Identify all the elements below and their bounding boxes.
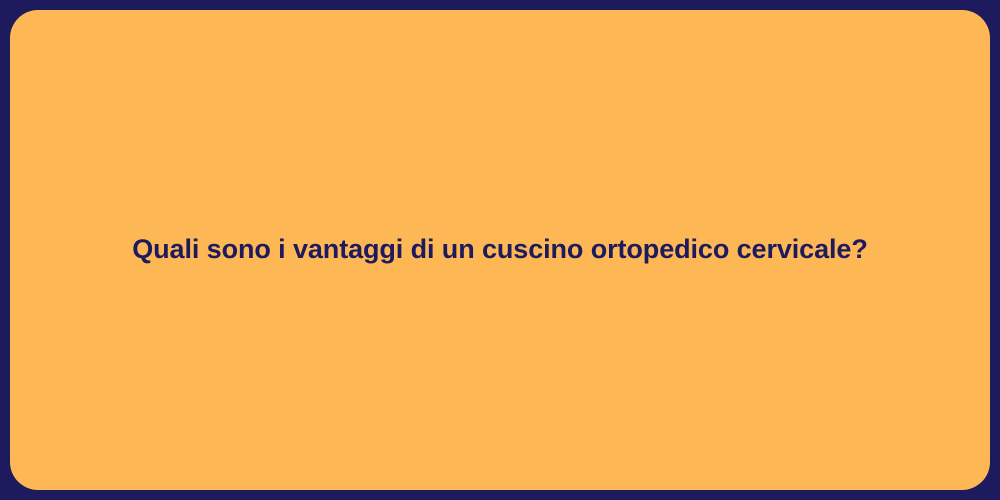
page-title: Quali sono i vantaggi di un cuscino orto… <box>132 233 867 267</box>
banner-card: Quali sono i vantaggi di un cuscino orto… <box>10 10 990 490</box>
banner-frame: Quali sono i vantaggi di un cuscino orto… <box>0 0 1000 500</box>
